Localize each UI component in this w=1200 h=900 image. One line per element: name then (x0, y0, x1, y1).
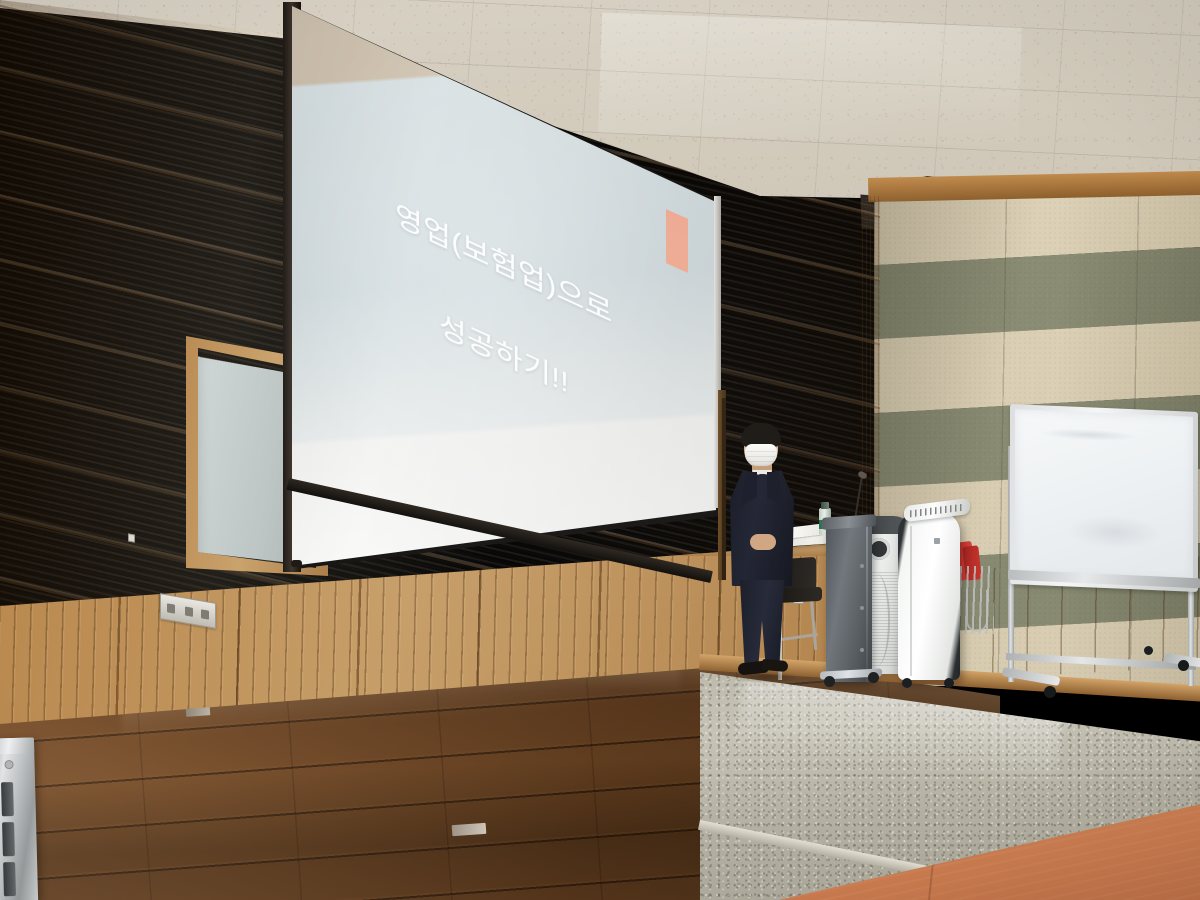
seminar-room-photo: 영업(보험업)으로 성공하기!! (0, 0, 1200, 900)
podium[interactable] (826, 522, 872, 682)
purifier-outlet-slots (910, 504, 964, 518)
presenter-clasped-hands (750, 534, 776, 550)
floor-outlet-cover[interactable] (186, 707, 210, 717)
whiteboard-caster (1144, 646, 1153, 655)
bottle-cap (821, 502, 829, 509)
whiteboard-caster (1044, 686, 1056, 698)
ceiling-highlight (598, 13, 1022, 148)
radiator-fin (1, 782, 14, 816)
whiteboard-smudge (1040, 427, 1138, 443)
radiator-fin (2, 822, 15, 856)
whiteboard-caster (1178, 660, 1189, 671)
face-mask (745, 444, 777, 466)
podium-screw (860, 648, 864, 652)
screen-pull-knob[interactable] (291, 560, 302, 567)
presenter-shoe-right (762, 659, 789, 672)
whiteboard-surface[interactable] (1015, 409, 1193, 581)
purifier-caster (944, 678, 954, 688)
presenter-suit-jacket (730, 470, 794, 586)
mobile-whiteboard[interactable] (1002, 408, 1198, 700)
chair-frame-hoop (966, 590, 988, 632)
floor-outlet-cover[interactable] (452, 823, 487, 836)
podium-screw (860, 606, 864, 610)
presenter-trousers (738, 580, 786, 668)
purifier-logo-icon (934, 538, 940, 544)
presenter (714, 424, 810, 686)
radiator (0, 737, 38, 900)
whiteboard-smudge (1068, 514, 1161, 551)
mask-pleat (747, 461, 775, 462)
podium-caster (868, 672, 879, 683)
air-purifier-front[interactable] (898, 512, 960, 680)
purifier-caster (902, 678, 912, 688)
podium-caster (824, 676, 835, 687)
outlet-jack (201, 609, 209, 619)
wall-switch[interactable] (128, 533, 135, 542)
outlet-jack (167, 603, 175, 613)
radiator-cap (0, 737, 34, 754)
whiteboard-foot (1002, 667, 1061, 686)
purifier-panel-seam (910, 526, 912, 676)
podium-screw (860, 564, 864, 568)
mask-pleat (747, 451, 775, 452)
outlet-jack (185, 606, 193, 616)
slide-accent-bar (666, 209, 688, 273)
mask-pleat (747, 456, 775, 457)
whiteboard-frame (1010, 404, 1198, 592)
radiator-valve-knob[interactable] (4, 760, 13, 769)
radiator-fin (3, 862, 16, 896)
podium-edge-highlight (866, 522, 868, 682)
